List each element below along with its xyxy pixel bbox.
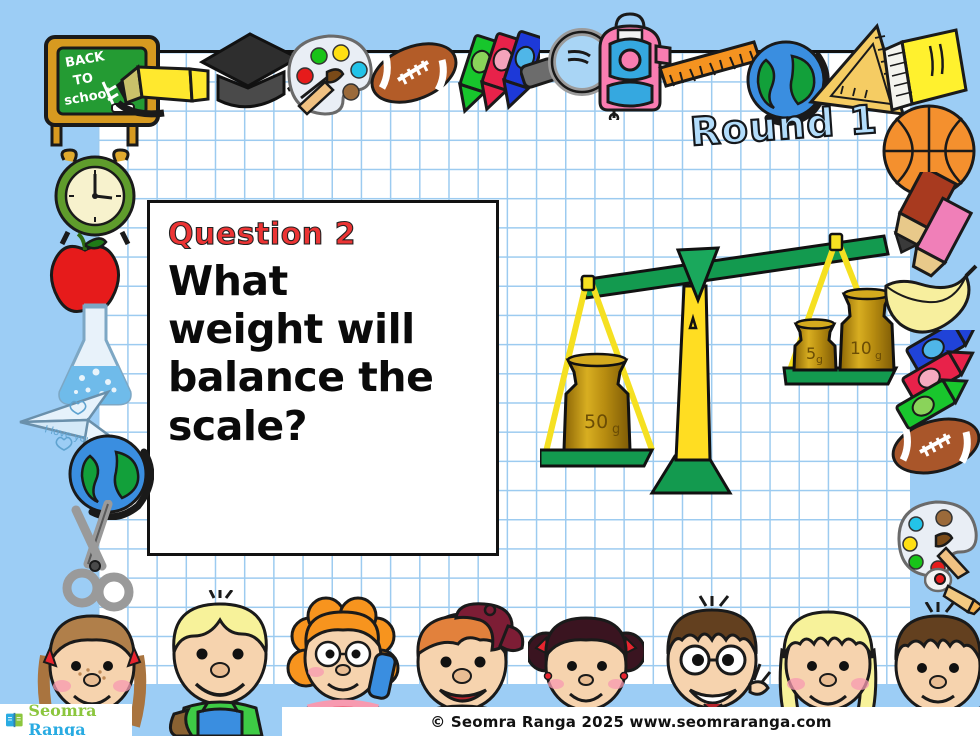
weight-50g-unit: g xyxy=(612,422,620,437)
football-icon xyxy=(368,32,460,114)
right-hanger-knob xyxy=(830,234,842,250)
question-card: Question 2 What weight will balance the … xyxy=(147,200,499,556)
question-text: What weight will balance the scale? xyxy=(168,257,478,451)
kid-boy-blonde-overalls xyxy=(158,590,282,736)
alarm-clock-icon xyxy=(52,146,138,246)
scissors-icon xyxy=(52,500,140,612)
question-line-3: balance the xyxy=(168,353,478,401)
weight-5g: 5 g xyxy=(794,320,836,371)
question-line-1: What xyxy=(168,257,478,305)
seomra-ranga-logo: Seomra Ranga xyxy=(0,704,132,736)
weight-5g-value: 5 xyxy=(806,344,816,363)
paint-palette-icon xyxy=(285,32,377,120)
scale-post xyxy=(676,286,710,460)
weight-10g-value: 10 xyxy=(850,339,872,359)
logo-text: Seomra Ranga xyxy=(28,701,132,736)
book-icon xyxy=(6,710,23,730)
worksheet-page: BACK TO school xyxy=(0,0,980,736)
weight-50g: 50 g xyxy=(564,354,630,450)
balance-scale-illustration: 50 g 5 g 10 g xyxy=(540,228,920,518)
logo-ranga: Ranga xyxy=(28,720,85,736)
scale-base xyxy=(652,456,730,493)
football-icon xyxy=(890,406,980,486)
left-pan xyxy=(540,450,652,466)
question-line-2: weight will xyxy=(168,305,478,353)
question-line-4: scale? xyxy=(168,402,478,450)
left-hanger-knob xyxy=(582,276,594,290)
weight-5g-unit: g xyxy=(816,353,823,366)
copyright-notice: © Seomra Ranga 2025 www.seomraranga.com xyxy=(282,707,980,736)
logo-seomra: Seomra xyxy=(28,701,96,720)
weight-50g-value: 50 xyxy=(584,411,608,433)
question-number: Question 2 xyxy=(168,219,478,251)
